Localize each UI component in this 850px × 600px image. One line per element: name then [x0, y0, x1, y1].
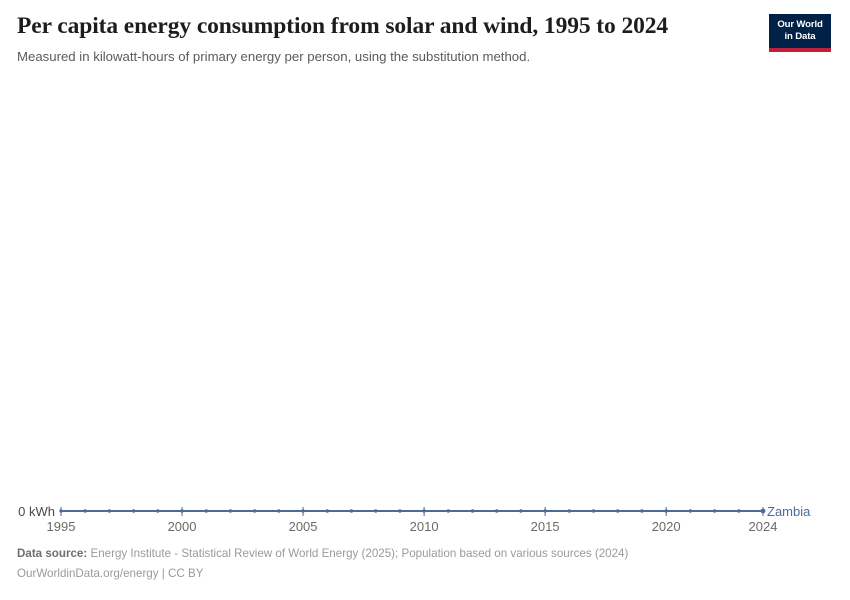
- y-axis-unit-label: 0 kWh: [18, 504, 55, 519]
- data-point-marker[interactable]: [326, 509, 329, 512]
- x-axis-tick-label: 2010: [410, 519, 439, 534]
- data-point-marker[interactable]: [374, 509, 377, 512]
- data-point-marker[interactable]: [592, 509, 595, 512]
- data-point-marker[interactable]: [156, 509, 159, 512]
- data-source-line: Data source: Energy Institute - Statisti…: [17, 544, 817, 564]
- data-point-marker[interactable]: [495, 509, 498, 512]
- data-point-marker[interactable]: [84, 509, 87, 512]
- data-point-marker[interactable]: [132, 509, 135, 512]
- data-point-marker[interactable]: [689, 509, 692, 512]
- series-label-zambia: Zambia: [767, 504, 811, 519]
- attribution-text[interactable]: OurWorldinData.org/energy | CC BY: [17, 567, 203, 580]
- x-axis-tick-label: 2015: [531, 519, 560, 534]
- chart-footer: Data source: Energy Institute - Statisti…: [17, 544, 817, 584]
- data-point-marker[interactable]: [447, 509, 450, 512]
- logo-line-2: in Data: [785, 31, 816, 42]
- data-point-marker[interactable]: [108, 509, 111, 512]
- data-point-marker[interactable]: [253, 509, 256, 512]
- our-world-in-data-logo[interactable]: Our World in Data: [769, 14, 831, 52]
- chart-plot-area[interactable]: 0 kWh 1995200020052010201520202024 Zambi…: [0, 80, 850, 540]
- x-axis-tick-label: 2000: [168, 519, 197, 534]
- logo-line-1: Our World: [777, 19, 822, 30]
- chart-subtitle: Measured in kilowatt-hours of primary en…: [17, 48, 757, 66]
- data-point-marker[interactable]: [277, 509, 280, 512]
- data-point-marker[interactable]: [398, 509, 401, 512]
- x-axis-tick-label: 2020: [652, 519, 681, 534]
- data-point-marker[interactable]: [640, 509, 643, 512]
- data-source-text: Energy Institute - Statistical Review of…: [90, 547, 628, 560]
- x-axis-tick-label: 2005: [289, 519, 318, 534]
- page-title: Per capita energy consumption from solar…: [17, 13, 757, 41]
- data-point-marker[interactable]: [205, 509, 208, 512]
- data-point-marker[interactable]: [616, 509, 619, 512]
- attribution-line: OurWorldinData.org/energy | CC BY: [17, 564, 817, 584]
- chart-page: Per capita energy consumption from solar…: [0, 0, 850, 600]
- x-axis-tick-label: 2024: [749, 519, 778, 534]
- data-point-marker[interactable]: [519, 509, 522, 512]
- data-point-marker[interactable]: [737, 509, 740, 512]
- data-point-marker[interactable]: [471, 509, 474, 512]
- line-chart-svg: 0 kWh 1995200020052010201520202024 Zambi…: [0, 80, 850, 540]
- chart-data-layer: 1995200020052010201520202024: [47, 507, 778, 534]
- data-point-marker[interactable]: [713, 509, 716, 512]
- data-point-marker[interactable]: [229, 509, 232, 512]
- data-point-marker[interactable]: [350, 509, 353, 512]
- x-axis-tick-label: 1995: [47, 519, 76, 534]
- data-source-label: Data source:: [17, 547, 87, 560]
- data-point-marker[interactable]: [568, 509, 571, 512]
- chart-header: Per capita energy consumption from solar…: [17, 13, 757, 66]
